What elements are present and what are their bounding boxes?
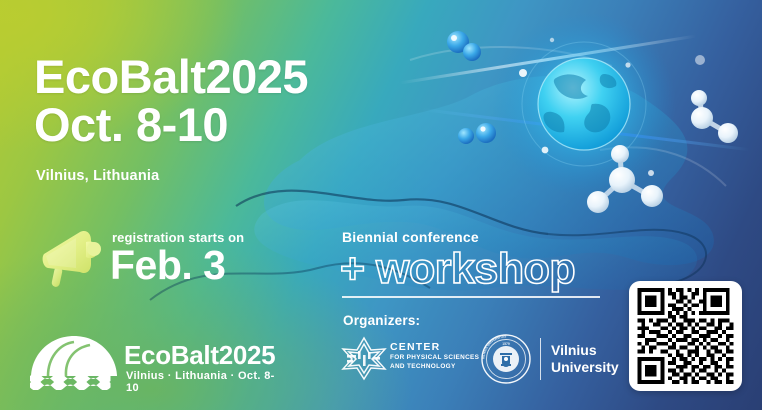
organizers-row: CENTER FOR PHYSICAL SCIENCES AND TECHNOL… [340, 333, 630, 389]
organizers-label: Organizers: [343, 313, 420, 328]
ftmc-line-2: FOR PHYSICAL SCIENCES [390, 354, 479, 362]
title-line-2: Oct. 8-10 [34, 103, 308, 147]
page-title: EcoBalt2025 Oct. 8-10 [34, 55, 308, 147]
workshop-divider [342, 296, 600, 298]
qr-code[interactable] [637, 288, 734, 384]
workshop-outline-text: + workshop [338, 243, 638, 295]
vu-line-2: University [551, 359, 619, 376]
vu-line-1: Vilnius [551, 342, 619, 359]
location-subtitle: Vilnius, Lithuania [36, 168, 159, 184]
ftmc-line-1: CENTER [390, 341, 479, 353]
organizer-divider [540, 338, 541, 380]
ftmc-star-icon [340, 335, 388, 381]
registration-date: Feb. 3 [110, 243, 225, 287]
vilnius-university-wordmark: Vilnius University [551, 342, 619, 376]
logo-tagline: Vilnius · Lithuania · Oct. 8-10 [126, 370, 278, 394]
ftmc-wordmark: CENTER FOR PHYSICAL SCIENCES AND TECHNOL… [390, 341, 479, 371]
ecobalt-arc-waves-icon [28, 332, 120, 390]
svg-text:+ workshop: + workshop [340, 245, 575, 293]
ecobalt-logo-lockup: EcoBalt2025 Vilnius · Lithuania · Oct. 8… [28, 330, 278, 392]
ftmc-line-3: AND TECHNOLOGY [390, 363, 479, 371]
megaphone-icon [36, 224, 108, 288]
qr-code-card[interactable] [629, 281, 742, 391]
registration-block: registration starts on Feb. 3 [36, 222, 316, 292]
vilnius-university-seal-icon: VILNIUS UNIVERSITAS 1579 [480, 333, 532, 385]
logo-name: EcoBalt2025 [124, 340, 275, 371]
conference-banner: EcoBalt2025 Oct. 8-10 Vilnius, Lithuania… [0, 0, 762, 410]
title-line-1: EcoBalt2025 [34, 50, 308, 103]
seal-year: 1579 [502, 342, 510, 346]
